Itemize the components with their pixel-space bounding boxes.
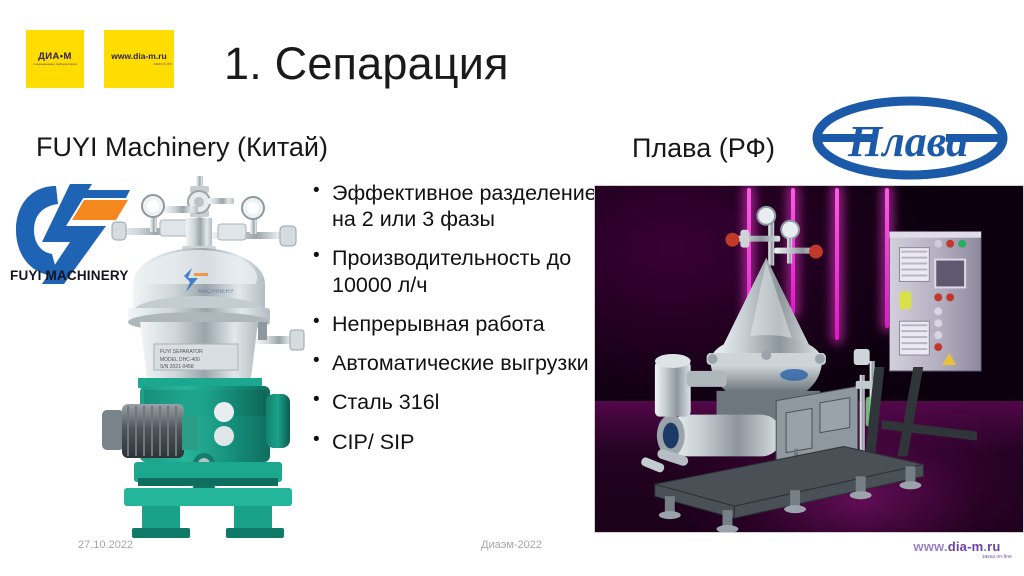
- diam-logo-tagline: современная лаборатория: [33, 63, 76, 66]
- footer-logo-tld: ru: [987, 539, 1000, 554]
- svg-text:MODEL DHC-400: MODEL DHC-400: [160, 357, 200, 363]
- fuyi-separator-illustration: MACHINERY FUYI SEPARATOR MODEL DHC-400 S…: [98, 172, 308, 540]
- footer-logo-text: www.dia-m.ru: [913, 540, 1000, 553]
- footer-date: 27.10.2022: [78, 539, 133, 551]
- list-item: Эффективное разделение на 2 или 3 фазы: [310, 180, 600, 232]
- footer-logo-tagline: заказ on-line: [982, 555, 1012, 560]
- footer-center-text: Диаэм-2022: [481, 539, 542, 551]
- right-product-photo: [594, 185, 1024, 533]
- svg-text:Плава: Плава: [847, 117, 968, 166]
- list-item: Сталь 316l: [310, 389, 600, 415]
- slide-canvas: ДИА•М современная лаборатория www.dia-m.…: [0, 0, 1024, 576]
- footer-logo-prefix: www.: [913, 539, 947, 554]
- svg-text:S/N 2021-0458: S/N 2021-0458: [160, 364, 194, 370]
- left-product-photo: FUYI MACHINERY: [2, 172, 308, 540]
- list-item: Непрерывная работа: [310, 311, 600, 337]
- list-item: CIP/ SIP: [310, 429, 600, 455]
- list-item: Автоматические выгрузки: [310, 350, 600, 376]
- diam-logo-text: ДИА•М: [38, 52, 72, 62]
- right-column-heading: Плава (РФ): [632, 133, 775, 164]
- dia-m-ru-logo: www.dia-m.ru заказ on-line: [104, 30, 174, 88]
- dia-m-ru-logo-tagline: заказ on-line: [154, 63, 172, 66]
- brand-logo-row: ДИА•М современная лаборатория www.dia-m.…: [26, 30, 174, 88]
- plava-logo-icon: Плава: [812, 96, 1008, 180]
- feature-list: Эффективное разделение на 2 или 3 фазы П…: [310, 180, 600, 468]
- list-item: Производительность до 10000 л/ч: [310, 245, 600, 297]
- dia-m-ru-logo-text: www.dia-m.ru: [111, 52, 166, 61]
- footer-dia-m-logo[interactable]: www.dia-m.ru заказ on-line: [898, 540, 1016, 568]
- plava-separator-illustration: [595, 186, 1023, 532]
- svg-text:MACHINERY: MACHINERY: [198, 289, 234, 295]
- svg-text:FUYI SEPARATOR: FUYI SEPARATOR: [160, 349, 203, 355]
- left-column-heading: FUYI Machinery (Китай): [36, 132, 328, 163]
- diam-logo: ДИА•М современная лаборатория: [26, 30, 84, 88]
- page-title: 1. Сепарация: [224, 40, 509, 87]
- footer-logo-main: dia-m: [948, 539, 984, 554]
